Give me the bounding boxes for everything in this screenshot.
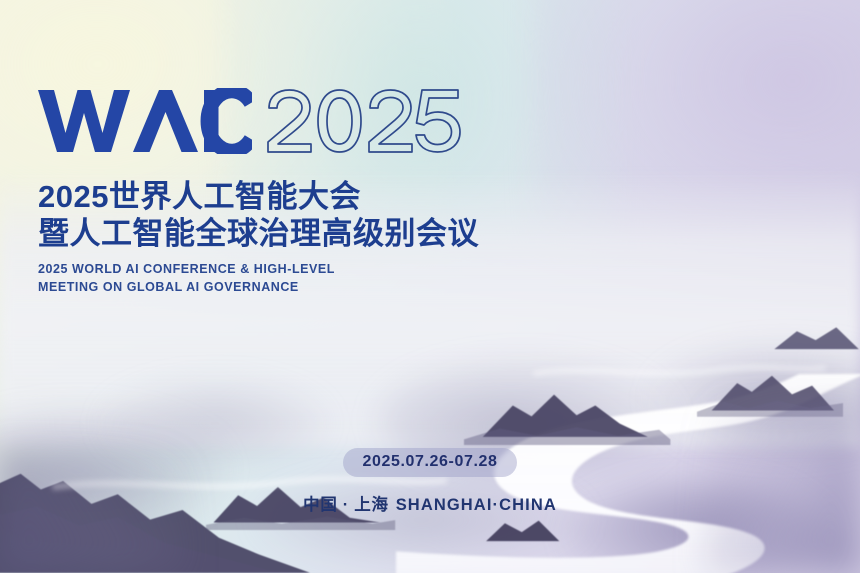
location-chinese: 中国 · 上海 — [303, 496, 389, 514]
location-english: SHANGHAI·CHINA — [396, 496, 557, 514]
mountain-mid-right — [464, 385, 670, 445]
mist-ribbon-right — [533, 356, 825, 388]
waic-2025-poster: 2025世界人工智能大会 暨人工智能全球治理高级别会议 2025 WORLD A… — [0, 0, 860, 573]
mountain-top-right — [765, 321, 860, 353]
headline-chinese-line-2: 暨人工智能全球治理高级别会议 — [38, 216, 508, 252]
date-badge: 2025.07.26-07.28 — [343, 448, 516, 477]
headline-chinese-line-1: 2025世界人工智能大会 — [38, 179, 508, 215]
waic-wordmark — [38, 88, 252, 154]
subtitle-english: 2025 WORLD AI CONFERENCE & HIGH-LEVEL ME… — [38, 261, 508, 297]
year-outline-2025 — [266, 88, 462, 154]
rock-in-river — [473, 513, 576, 545]
event-details: 2025.07.26-07.28 中国 · 上海SHANGHAI·CHINA — [0, 448, 860, 515]
location-line: 中国 · 上海SHANGHAI·CHINA — [0, 491, 860, 515]
logo-row — [38, 88, 508, 162]
subtitle-english-line-2: MEETING ON GLOBAL AI GOVERNANCE — [38, 279, 508, 297]
subtitle-english-line-1: 2025 WORLD AI CONFERENCE & HIGH-LEVEL — [38, 261, 508, 279]
title-lockup: 2025世界人工智能大会 暨人工智能全球治理高级别会议 2025 WORLD A… — [38, 88, 508, 296]
